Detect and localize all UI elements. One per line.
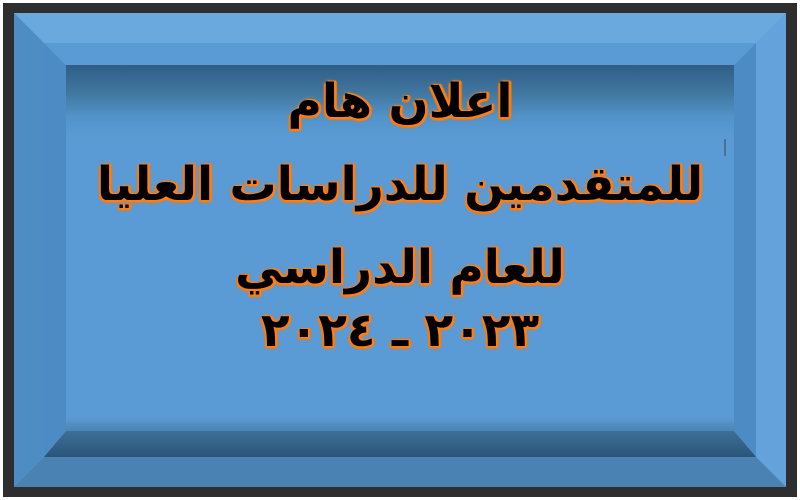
poster-frame-outer: اعلان هام للمتقدمين للدراسات العليا للعا… — [14, 13, 786, 487]
announcement-poster: اعلان هام للمتقدمين للدراسات العليا للعا… — [0, 0, 800, 500]
frame-bevel-left — [14, 13, 44, 487]
announcement-text-block: اعلان هام للمتقدمين للدراسات العليا للعا… — [66, 65, 734, 431]
announcement-line-2: للمتقدمين للدراسات العليا — [66, 160, 734, 210]
frame-bevel-right — [756, 13, 786, 487]
announcement-line-1: اعلان هام — [66, 77, 734, 127]
announcement-line-3: للعام الدراسي — [66, 243, 734, 293]
poster-canvas: اعلان هام للمتقدمين للدراسات العليا للعا… — [66, 65, 734, 431]
inner-bevel-left — [44, 43, 66, 457]
inner-bevel-top — [44, 43, 756, 65]
frame-bevel-top — [14, 13, 786, 43]
poster-outer-border: اعلان هام للمتقدمين للدراسات العليا للعا… — [3, 3, 797, 497]
inner-bevel-bottom — [44, 431, 756, 457]
inner-bevel-right — [734, 43, 756, 457]
announcement-line-4-academic-year: ٢٠٢٣ ـ ٢٠٢٤ — [66, 306, 734, 356]
frame-bevel-bottom — [14, 457, 786, 487]
